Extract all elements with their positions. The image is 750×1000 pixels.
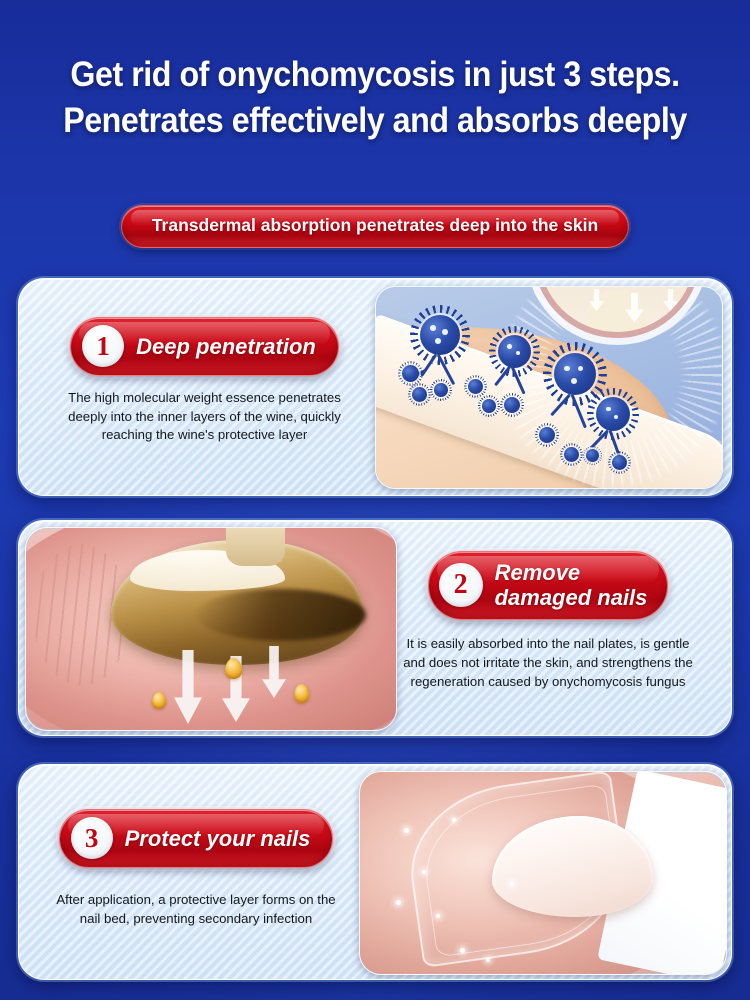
fungus-spore-icon [468, 379, 483, 394]
fungus-spore-icon [554, 353, 596, 395]
page-title: Get rid of onychomycosis in just 3 steps… [30, 52, 720, 144]
essence-droplet-icon [152, 692, 166, 709]
step-2-illustration [25, 527, 397, 731]
banner-container: Transdermal absorption penetrates deep i… [0, 205, 750, 248]
banner-label: Transdermal absorption penetrates deep i… [152, 215, 598, 236]
step-3-text-column: 3 Protect your nails After application, … [19, 765, 369, 979]
sparkle-icon [422, 870, 426, 874]
sparkle-icon [460, 948, 465, 953]
step-2-text-column: 2 Remove damaged nails It is easily abso… [375, 521, 731, 735]
step-card-2: 2 Remove damaged nails It is easily abso… [18, 520, 732, 736]
nail-discoloration-streak [196, 589, 366, 642]
step-2-title: Remove damaged nails [495, 560, 648, 610]
fungus-spore-icon [434, 383, 448, 397]
step-3-badge: 3 Protect your nails [59, 809, 334, 868]
fungus-spore-icon [482, 399, 496, 413]
step-1-body: The high molecular weight essence penetr… [49, 389, 360, 445]
step-1-badge: 1 Deep penetration [70, 317, 339, 376]
step-2-body: It is easily absorbed into the nail plat… [403, 634, 693, 691]
step-2-badge: 2 Remove damaged nails [428, 551, 669, 620]
headline-line-1: Get rid of onychomycosis in just 3 steps… [30, 52, 720, 98]
step-card-3: 3 Protect your nails After application, … [18, 764, 732, 980]
fungus-spore-icon [420, 315, 460, 355]
applicator-tip [226, 527, 285, 566]
fungus-spore-icon [586, 449, 599, 462]
transdermal-banner: Transdermal absorption penetrates deep i… [121, 205, 629, 248]
fungus-spore-icon [612, 455, 627, 470]
step-3-number: 3 [71, 817, 113, 859]
fungus-spore-icon [402, 365, 419, 382]
step-3-title: Protect your nails [125, 826, 311, 851]
fungus-spore-icon [498, 335, 531, 368]
sparkle-icon [404, 828, 409, 833]
step-3-illustration [359, 771, 727, 975]
fungus-spore-icon [539, 427, 555, 443]
fungus-spore-icon [564, 447, 579, 462]
essence-droplet-icon [294, 684, 309, 703]
headline-line-2: Penetrates effectively and absorbs deepl… [30, 98, 720, 144]
step-2-number: 2 [439, 563, 483, 607]
step-1-illustration [375, 286, 723, 489]
sparkle-icon [436, 914, 440, 918]
sparkle-icon [510, 882, 514, 886]
fungus-spore-icon [412, 387, 427, 402]
sparkle-icon [486, 958, 490, 962]
step-1-number: 1 [82, 325, 124, 367]
step-3-body: After application, a protective layer fo… [48, 890, 344, 928]
fungus-spore-icon [504, 397, 520, 413]
step-1-text-column: 1 Deep penetration The high molecular we… [19, 279, 374, 495]
step-1-title: Deep penetration [136, 334, 316, 359]
step-card-1: 1 Deep penetration The high molecular we… [18, 278, 732, 496]
sparkle-icon [452, 818, 456, 822]
sparkle-icon [396, 900, 401, 905]
essence-droplet-icon [225, 658, 242, 679]
fungus-spore-icon [596, 397, 630, 431]
